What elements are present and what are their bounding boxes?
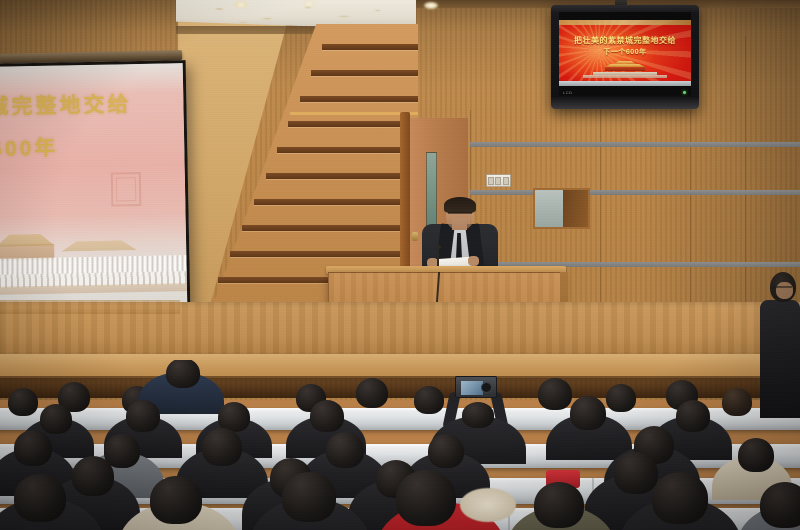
ceiling-downlight-icon bbox=[424, 2, 438, 9]
projection-screen: 城完整地交给 600年 bbox=[0, 60, 190, 312]
wall-niche bbox=[533, 188, 590, 229]
stair-step bbox=[266, 173, 418, 179]
audience-head bbox=[202, 428, 242, 466]
audience-head bbox=[72, 456, 114, 496]
standing-person-glasses-icon bbox=[772, 286, 792, 288]
tv-slide-line1: 把壮美的紫禁城完整地交给 bbox=[559, 35, 691, 46]
audience-head bbox=[606, 384, 636, 412]
audience-head bbox=[676, 400, 710, 432]
wall-accent-stripe bbox=[470, 190, 800, 195]
standing-person-body bbox=[760, 300, 800, 418]
audience-head bbox=[538, 378, 572, 410]
slide-top-bar bbox=[559, 20, 691, 25]
niche-recess bbox=[563, 190, 588, 227]
audience-head bbox=[14, 430, 52, 466]
audience-head bbox=[14, 474, 66, 522]
handheld-camera[interactable] bbox=[455, 376, 497, 398]
stair-step bbox=[322, 44, 418, 50]
audience-head bbox=[282, 472, 336, 522]
audience-head bbox=[40, 404, 72, 434]
niche-grey-panel bbox=[535, 190, 563, 227]
audience-head bbox=[760, 482, 800, 528]
wall-accent-stripe bbox=[470, 142, 800, 147]
audience-head bbox=[462, 402, 494, 428]
ceiling-downlight-icon bbox=[234, 1, 248, 8]
camera-screen bbox=[461, 381, 483, 395]
audience-head bbox=[652, 472, 708, 524]
audience-head bbox=[310, 400, 344, 432]
slide-seal-mark bbox=[111, 172, 142, 207]
stair-step bbox=[230, 251, 418, 257]
audience-head bbox=[428, 434, 464, 468]
stair-step bbox=[277, 147, 418, 153]
microphone-head-icon bbox=[435, 245, 441, 249]
stair-step bbox=[288, 121, 418, 127]
projection-text-line2: 600年 bbox=[0, 132, 59, 163]
projection-text-line1: 城完整地交给 bbox=[0, 88, 132, 121]
standing-person-face bbox=[776, 282, 793, 299]
audience-head bbox=[150, 476, 202, 524]
tv-slide-line2: 下一个600年 bbox=[559, 47, 691, 57]
audience-head bbox=[126, 400, 160, 432]
auditorium-photo: 城完整地交给 600年 把壮美的紫禁城完整地交给 下一个600年 LCD bbox=[0, 0, 800, 530]
tv-slide: 把壮美的紫禁城完整地交给 下一个600年 bbox=[559, 20, 691, 86]
audience-head bbox=[614, 452, 658, 494]
stair-step bbox=[254, 199, 418, 205]
presenter-hand bbox=[468, 256, 479, 266]
wall-mounted-tv[interactable]: 把壮美的紫禁城完整地交给 下一个600年 LCD bbox=[551, 5, 699, 109]
stair-step-highlight bbox=[290, 112, 418, 115]
presenter-hair bbox=[444, 197, 476, 213]
audience-head bbox=[722, 388, 752, 416]
camera-lens-icon bbox=[481, 382, 492, 393]
stair-step bbox=[311, 70, 418, 76]
tv-display-panel: 把壮美的紫禁城完整地交给 下一个600年 LCD bbox=[559, 12, 691, 96]
audience-head bbox=[414, 386, 444, 414]
slide-bottom-strip bbox=[559, 81, 691, 86]
audience-head bbox=[396, 470, 456, 526]
audience-head bbox=[534, 482, 584, 528]
light-switch-key[interactable] bbox=[488, 177, 494, 185]
stair-step bbox=[242, 225, 418, 231]
ceiling-downlight-icon bbox=[302, 0, 316, 7]
audience-head bbox=[166, 360, 200, 388]
audience-head bbox=[570, 396, 606, 430]
audience-head bbox=[738, 438, 774, 472]
audience-head bbox=[326, 432, 364, 468]
tv-power-led bbox=[683, 91, 686, 94]
light-switch-key[interactable] bbox=[495, 177, 501, 185]
light-switch-key[interactable] bbox=[503, 177, 509, 185]
presenter-glasses-icon bbox=[448, 212, 472, 214]
fur-collar bbox=[460, 488, 516, 522]
audience-area bbox=[0, 360, 800, 530]
audience-head bbox=[356, 378, 388, 408]
slide-palace-terrace bbox=[583, 75, 667, 78]
tv-brand-label: LCD bbox=[563, 90, 573, 95]
audience-head bbox=[8, 388, 38, 416]
door-handle-icon[interactable] bbox=[412, 232, 418, 241]
stair-step bbox=[300, 96, 418, 102]
door-frame bbox=[400, 112, 410, 282]
light-switch-plate[interactable] bbox=[486, 174, 511, 187]
stage-trim bbox=[0, 300, 180, 314]
